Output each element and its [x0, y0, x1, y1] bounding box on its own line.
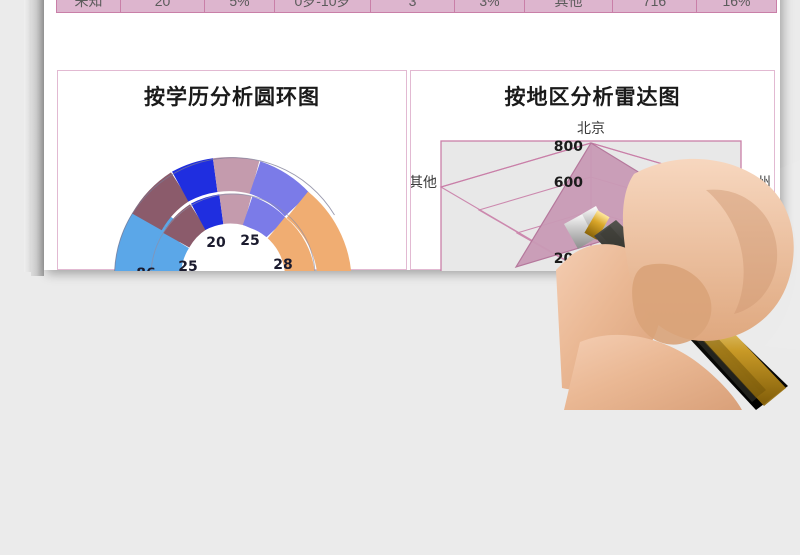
table-cell[interactable]: 3% — [455, 0, 525, 13]
table-cell[interactable]: 16% — [697, 0, 777, 13]
table-cell[interactable]: 716 — [613, 0, 697, 13]
table-cell[interactable]: 其他 — [525, 0, 613, 13]
table-cell[interactable]: 0岁-10岁 — [275, 0, 371, 13]
radar-chart-plot[interactable]: 800 600 200 北京 广州 其他 — [411, 115, 776, 271]
middle-finger — [632, 264, 711, 345]
donut-chart-panel[interactable]: 按学历分析圆环图 — [57, 70, 407, 270]
donut-chart-title: 按学历分析圆环图 — [58, 81, 406, 111]
donut-value-label: 25 — [178, 259, 197, 271]
charts-strip: 按学历分析圆环图 — [57, 70, 775, 270]
donut-value-label: 20 — [206, 235, 226, 251]
radar-chart-title: 按地区分析雷达图 — [411, 81, 774, 111]
table-cell[interactable]: 20 — [121, 0, 205, 13]
radar-category-label-other: 其他 — [411, 175, 437, 191]
palm — [564, 335, 742, 410]
table-cell[interactable]: 未知 — [57, 0, 121, 13]
table-row[interactable]: 未知 20 5% 0岁-10岁 3 3% 其他 716 16% — [57, 0, 777, 13]
donut-chart-plot[interactable]: 25 20 25 28 86 — [58, 121, 408, 271]
radar-category-label-guangzhou: 广州 — [743, 175, 771, 191]
radar-tick-label: 600 — [554, 175, 583, 191]
radar-chart-svg: 800 600 200 北京 广州 其他 — [411, 115, 776, 271]
radar-category-label-beijing: 北京 — [577, 121, 605, 137]
donut-value-label: 86 — [136, 266, 155, 271]
radar-tick-label: 200 — [554, 251, 583, 267]
donut-value-label: 25 — [240, 233, 259, 249]
statistics-table[interactable]: 初中 86 20% 21岁-30岁 20 22% 天津 379 9% 小学 25… — [56, 0, 777, 13]
worksheet-paper-edge-inner — [31, 0, 44, 276]
radar-chart-panel[interactable]: 按地区分析雷达图 800 — [410, 70, 775, 270]
table-cell[interactable]: 3 — [371, 0, 455, 13]
donut-chart-svg: 25 20 25 28 86 — [83, 121, 383, 271]
table-cell[interactable]: 5% — [205, 0, 275, 13]
donut-value-label: 28 — [273, 257, 292, 271]
radar-tick-label: 800 — [554, 139, 583, 155]
